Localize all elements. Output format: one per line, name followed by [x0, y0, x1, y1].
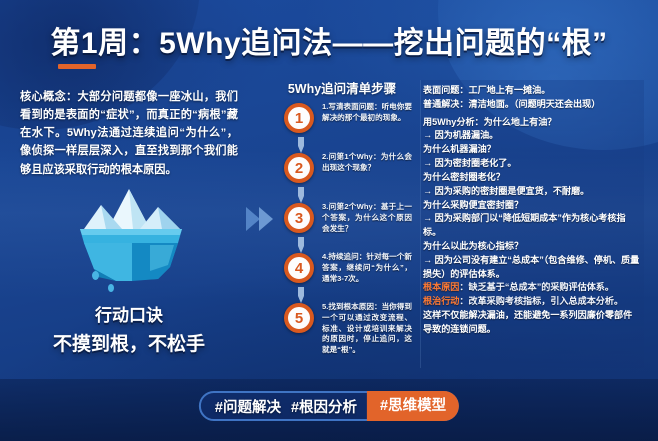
root-cause-line: 根本原因：缺乏基于“总成本”的采购评估体系。	[423, 281, 640, 295]
hashtag-item[interactable]: #问题解决	[215, 396, 281, 417]
hashtag-item[interactable]: #根因分析	[291, 396, 357, 417]
page-title: 第1周：5Why追问法——挖出问题的“根”	[0, 18, 658, 62]
left-column: 核心概念：大部分问题都像一座冰山，我们看到的是表面的“症状”，而真正的“病根”藏…	[20, 88, 238, 356]
case-line: 为什么以此为核心指标？	[423, 240, 640, 254]
core-concept-text: 核心概念：大部分问题都像一座冰山，我们看到的是表面的“症状”，而真正的“病根”藏…	[20, 88, 238, 179]
content-columns: 核心概念：大部分问题都像一座冰山，我们看到的是表面的“症状”，而真正的“病根”藏…	[0, 78, 658, 373]
step-item: 4 4.持续追问：针对每一个新答案，继续问“为什么”，通常3-7次。	[272, 253, 412, 295]
slogan-title: 行动口诀	[20, 301, 238, 326]
root-action-label: 根治行动	[423, 296, 459, 306]
step-item: 2 2.问第1个Why：为什么会出现这个现象？	[272, 153, 412, 195]
step-description: 5.找到根本原因：当你得到一个可以通过改变流程、标准、设计或培训来解决的原因时，…	[322, 302, 412, 356]
step-description: 3.问第2个Why：基于上一个答案，为什么这个原因会发生？	[322, 202, 412, 234]
step-number-badge: 1	[284, 103, 314, 133]
case-line: 表面问题：工厂地上有一摊油。	[423, 84, 640, 98]
water-drop-1	[92, 271, 99, 280]
title-underline-accent	[58, 64, 96, 69]
water-drop-2	[108, 284, 114, 292]
footer: #问题解决 #根因分析 #思维模型	[0, 379, 658, 441]
root-cause-text: ：缺乏基于“总成本”的采购评估体系。	[459, 282, 614, 292]
case-closing-line: 这样不仅能解决漏油，还能避免一系列因廉价零部件导致的连锁问题。	[423, 309, 640, 337]
step-connector-arrow	[298, 187, 304, 203]
right-column-case-study: 表面问题：工厂地上有一摊油。 普通解决：清洁地面。（问题明天还会出现） 用5Wh…	[420, 80, 644, 368]
step-description: 2.问第1个Why：为什么会出现这个现象？	[322, 152, 412, 174]
step-item: 3 3.问第2个Why：基于上一个答案，为什么这个原因会发生？	[272, 203, 412, 245]
case-line: 用5Why分析：为什么地上有油？	[423, 116, 640, 130]
case-line: 为什么采购便宜密封圈？	[423, 199, 640, 213]
step-number-badge: 3	[284, 203, 314, 233]
checklist-title: 5Why追问清单步骤	[272, 78, 412, 97]
steps-list: 1 1.写清表面问题：听电你要解决的那个最初的现象。 2 2.问第1个Why：为…	[272, 103, 412, 345]
step-number-badge: 4	[284, 253, 314, 283]
case-line: → 因为采购的密封圈是便宜货，不耐磨。	[423, 185, 640, 199]
iceberg-icon	[54, 185, 204, 297]
case-line: → 因为密封圈老化了。	[423, 157, 640, 171]
step-description: 1.写清表面问题：听电你要解决的那个最初的现象。	[322, 102, 412, 124]
poster-root: 第1周：5Why追问法——挖出问题的“根” 核心概念：大部分问题都像一座冰山，我…	[0, 0, 658, 441]
header: 第1周：5Why追问法——挖出问题的“根”	[0, 18, 658, 62]
case-line: 为什么密封圈老化？	[423, 171, 640, 185]
root-action-text: ：改革采购考核指标，引入总成本分析。	[459, 296, 623, 306]
case-line: → 因为机器漏油。	[423, 129, 640, 143]
step-connector-arrow	[298, 287, 304, 303]
step-item: 5 5.找到根本原因：当你得到一个可以通过改变流程、标准、设计或培训来解决的原因…	[272, 303, 412, 345]
step-connector-arrow	[298, 237, 304, 253]
middle-column: 5Why追问清单步骤 1 1.写清表面问题：听电你要解决的那个最初的现象。 2 …	[272, 78, 412, 353]
step-connector-arrow	[298, 137, 304, 153]
hashtag-item-highlight[interactable]: #思维模型	[367, 391, 459, 421]
case-line: → 因为采购部门以“降低短期成本”作为核心考核指标。	[423, 212, 640, 240]
step-item: 1 1.写清表面问题：听电你要解决的那个最初的现象。	[272, 103, 412, 145]
step-description: 4.持续追问：针对每一个新答案，继续问“为什么”，通常3-7次。	[322, 252, 412, 284]
root-action-line: 根治行动：改革采购考核指标，引入总成本分析。	[423, 295, 640, 309]
step-number-badge: 5	[284, 303, 314, 333]
hashtag-bar: #问题解决 #根因分析 #思维模型	[199, 391, 459, 421]
root-cause-label: 根本原因	[423, 282, 459, 292]
slogan-block: 行动口诀 不摸到根，不松手	[20, 301, 238, 356]
case-line: 为什么机器漏油？	[423, 143, 640, 157]
iceberg-illustration-wrap	[20, 185, 238, 297]
case-line: 普通解决：清洁地面。（问题明天还会出现）	[423, 98, 640, 112]
step-number-badge: 2	[284, 153, 314, 183]
slogan-text: 不摸到根，不松手	[20, 329, 238, 356]
case-line: → 因为公司没有建立“总成本”（包含维修、停机、质量损失）的评估体系。	[423, 254, 640, 282]
